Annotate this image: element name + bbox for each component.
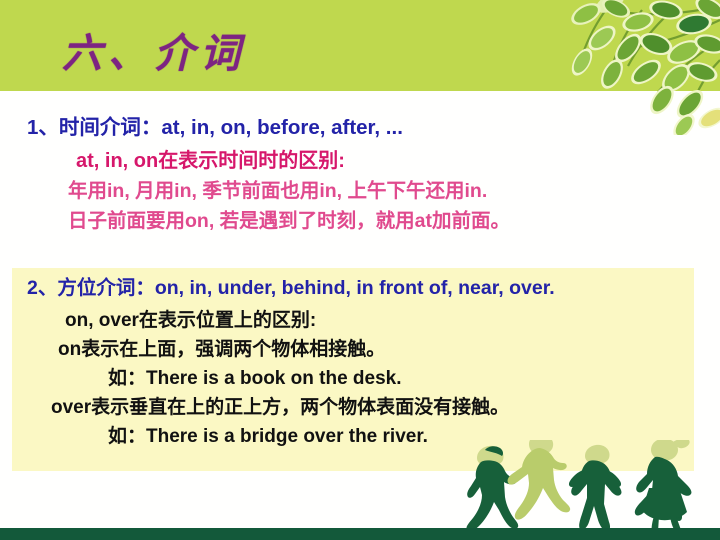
- section-time-prepositions: 1、时间介词：at, in, on, before, after, ... at…: [0, 118, 720, 242]
- slide-canvas: 六、介词: [0, 0, 720, 540]
- section2-heading: 2、方位介词：on, in, under, behind, in front o…: [27, 279, 694, 311]
- section2-example-on: 如：There is a book on the desk.: [108, 369, 694, 398]
- page-title: 六、介词: [62, 21, 246, 79]
- section2-line-on-meaning: on表示在上面，强调两个物体相接触。: [58, 340, 694, 369]
- section1-subheading: at, in, on在表示时间时的区别:: [76, 151, 720, 182]
- title-banner: 六、介词: [0, 0, 720, 91]
- section2-subheading: on, over在表示位置上的区别:: [65, 311, 694, 340]
- section2-line-over-meaning: over表示垂直在上的正上方，两个物体表面没有接触。: [51, 398, 694, 427]
- section-place-prepositions-panel: 2、方位介词：on, in, under, behind, in front o…: [12, 268, 694, 471]
- footer-bar: [0, 528, 720, 540]
- section1-heading: 1、时间介词：at, in, on, before, after, ...: [27, 118, 720, 151]
- section1-rule-2: 日子前面要用on, 若是遇到了时刻，就用at加前面。: [68, 212, 720, 242]
- section2-example-over: 如：There is a bridge over the river.: [108, 427, 694, 456]
- section1-rule-1: 年用in, 月用in, 季节前面也用in, 上午下午还用in.: [68, 182, 720, 212]
